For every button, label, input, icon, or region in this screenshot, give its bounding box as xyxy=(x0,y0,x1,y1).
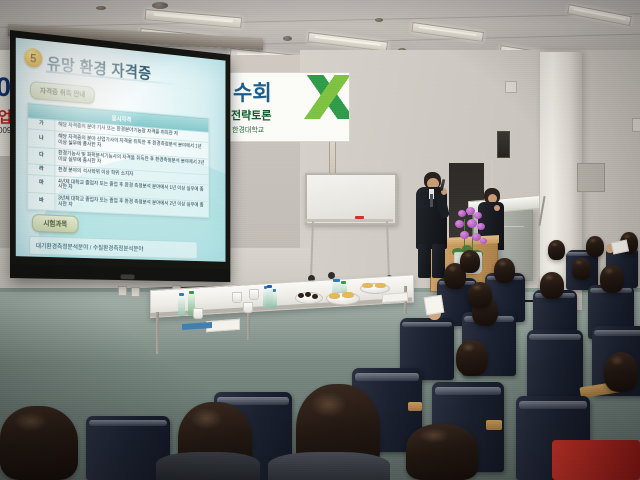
seat-armrest xyxy=(486,420,502,430)
audience-head xyxy=(460,250,480,273)
snack-item xyxy=(329,293,340,299)
green-event-banner: 수회 전략토론 한경대학교 xyxy=(228,72,350,142)
smoke-detector-icon xyxy=(96,6,106,10)
seat-cushion xyxy=(552,440,640,480)
snack-item xyxy=(342,292,354,298)
smoke-detector-icon xyxy=(283,36,292,41)
orchid-petal xyxy=(480,238,487,244)
speaker-leg xyxy=(418,244,431,278)
auditorium-seat xyxy=(527,330,583,398)
wall-speaker xyxy=(497,131,510,158)
slide-pill-bottom: 시험과목 xyxy=(32,214,78,234)
audience-shoulders xyxy=(156,452,260,480)
screen-pull-knob xyxy=(121,274,135,279)
paper-cup xyxy=(249,289,259,300)
slide-row-key: 나 xyxy=(28,129,55,148)
wall-socket xyxy=(131,287,140,297)
smoke-detector-icon xyxy=(152,2,168,9)
whiteboard-tray xyxy=(305,219,393,222)
audience-head xyxy=(456,340,488,376)
snack-item xyxy=(362,283,373,288)
audience-head xyxy=(540,272,564,299)
audience-shoulders xyxy=(268,452,390,480)
orchid-petal xyxy=(474,212,482,219)
water-bottle xyxy=(178,296,185,316)
slide-row-key: 다 xyxy=(28,146,55,165)
audience-head xyxy=(468,282,492,308)
green-banner-subtitle: 전략토론 xyxy=(231,107,271,123)
slide-row-key: 바 xyxy=(28,192,55,210)
audience-head xyxy=(600,265,624,293)
wall-socket xyxy=(118,286,127,296)
paper-cup xyxy=(193,308,203,319)
audience-head xyxy=(586,236,604,257)
slide-eligibility-table: 응시자격 가해당 자격증의 분야 기사 또는 환경분야기능장 자격을 취득한 자… xyxy=(27,102,209,217)
smoke-detector-icon xyxy=(375,18,383,22)
document-sheet xyxy=(382,292,408,303)
snack-item xyxy=(375,283,386,288)
slide-row-key: 마 xyxy=(28,175,55,194)
seat-back xyxy=(527,330,583,398)
slide-number-badge: 5 xyxy=(24,48,42,69)
whiteboard-marker xyxy=(355,216,364,219)
audience-head xyxy=(604,352,638,392)
orchid-petal xyxy=(467,219,477,228)
wall-vent xyxy=(577,163,605,192)
podium-person-hand xyxy=(494,205,500,211)
orchid-petal xyxy=(460,231,469,239)
orchid-petal xyxy=(455,220,464,228)
orchid-petal xyxy=(458,210,466,217)
banner-swoosh-graphic xyxy=(293,75,350,119)
whiteboard xyxy=(305,173,397,225)
wall-junction-box xyxy=(632,118,640,132)
water-bottle xyxy=(266,288,273,307)
slide-pill-top: 자격증 취득 안내 xyxy=(30,81,95,104)
snack-item xyxy=(298,293,304,298)
snack-item xyxy=(305,292,311,297)
paper-cup xyxy=(232,292,242,303)
speaker-leg xyxy=(432,244,445,278)
lecture-hall-photo: 09 업시 009. 11. 수회 전략토론 한경대학교 5 유망 환경 자격증… xyxy=(0,0,640,480)
green-banner-title: 수회 xyxy=(233,77,272,107)
speaker-tie xyxy=(430,194,433,207)
paper-cup xyxy=(243,302,253,313)
seat-armrest xyxy=(408,402,422,411)
projection-screen: 5 유망 환경 자격증 자격증 취득 안내 응시자격 가해당 자격증의 분야 기… xyxy=(10,30,230,282)
audience-head xyxy=(572,258,591,280)
screen-frame: 5 유망 환경 자격증 자격증 취득 안내 응시자격 가해당 자격증의 분야 기… xyxy=(10,30,230,282)
green-banner-footer: 한경대학교 xyxy=(232,125,264,135)
wall-junction-box xyxy=(505,81,517,93)
audience-head xyxy=(548,240,565,260)
snack-item xyxy=(312,294,318,299)
orchid-petal xyxy=(477,223,485,230)
audience-head-foreground xyxy=(0,406,78,480)
whiteboard-caster xyxy=(328,272,335,279)
projected-slide: 5 유망 환경 자격증 자격증 취득 안내 응시자격 가해당 자격증의 분야 기… xyxy=(16,38,226,262)
audience-head xyxy=(494,258,515,283)
audience-head-foreground xyxy=(406,424,478,480)
table-leg xyxy=(156,312,159,354)
held-paper xyxy=(424,295,445,316)
